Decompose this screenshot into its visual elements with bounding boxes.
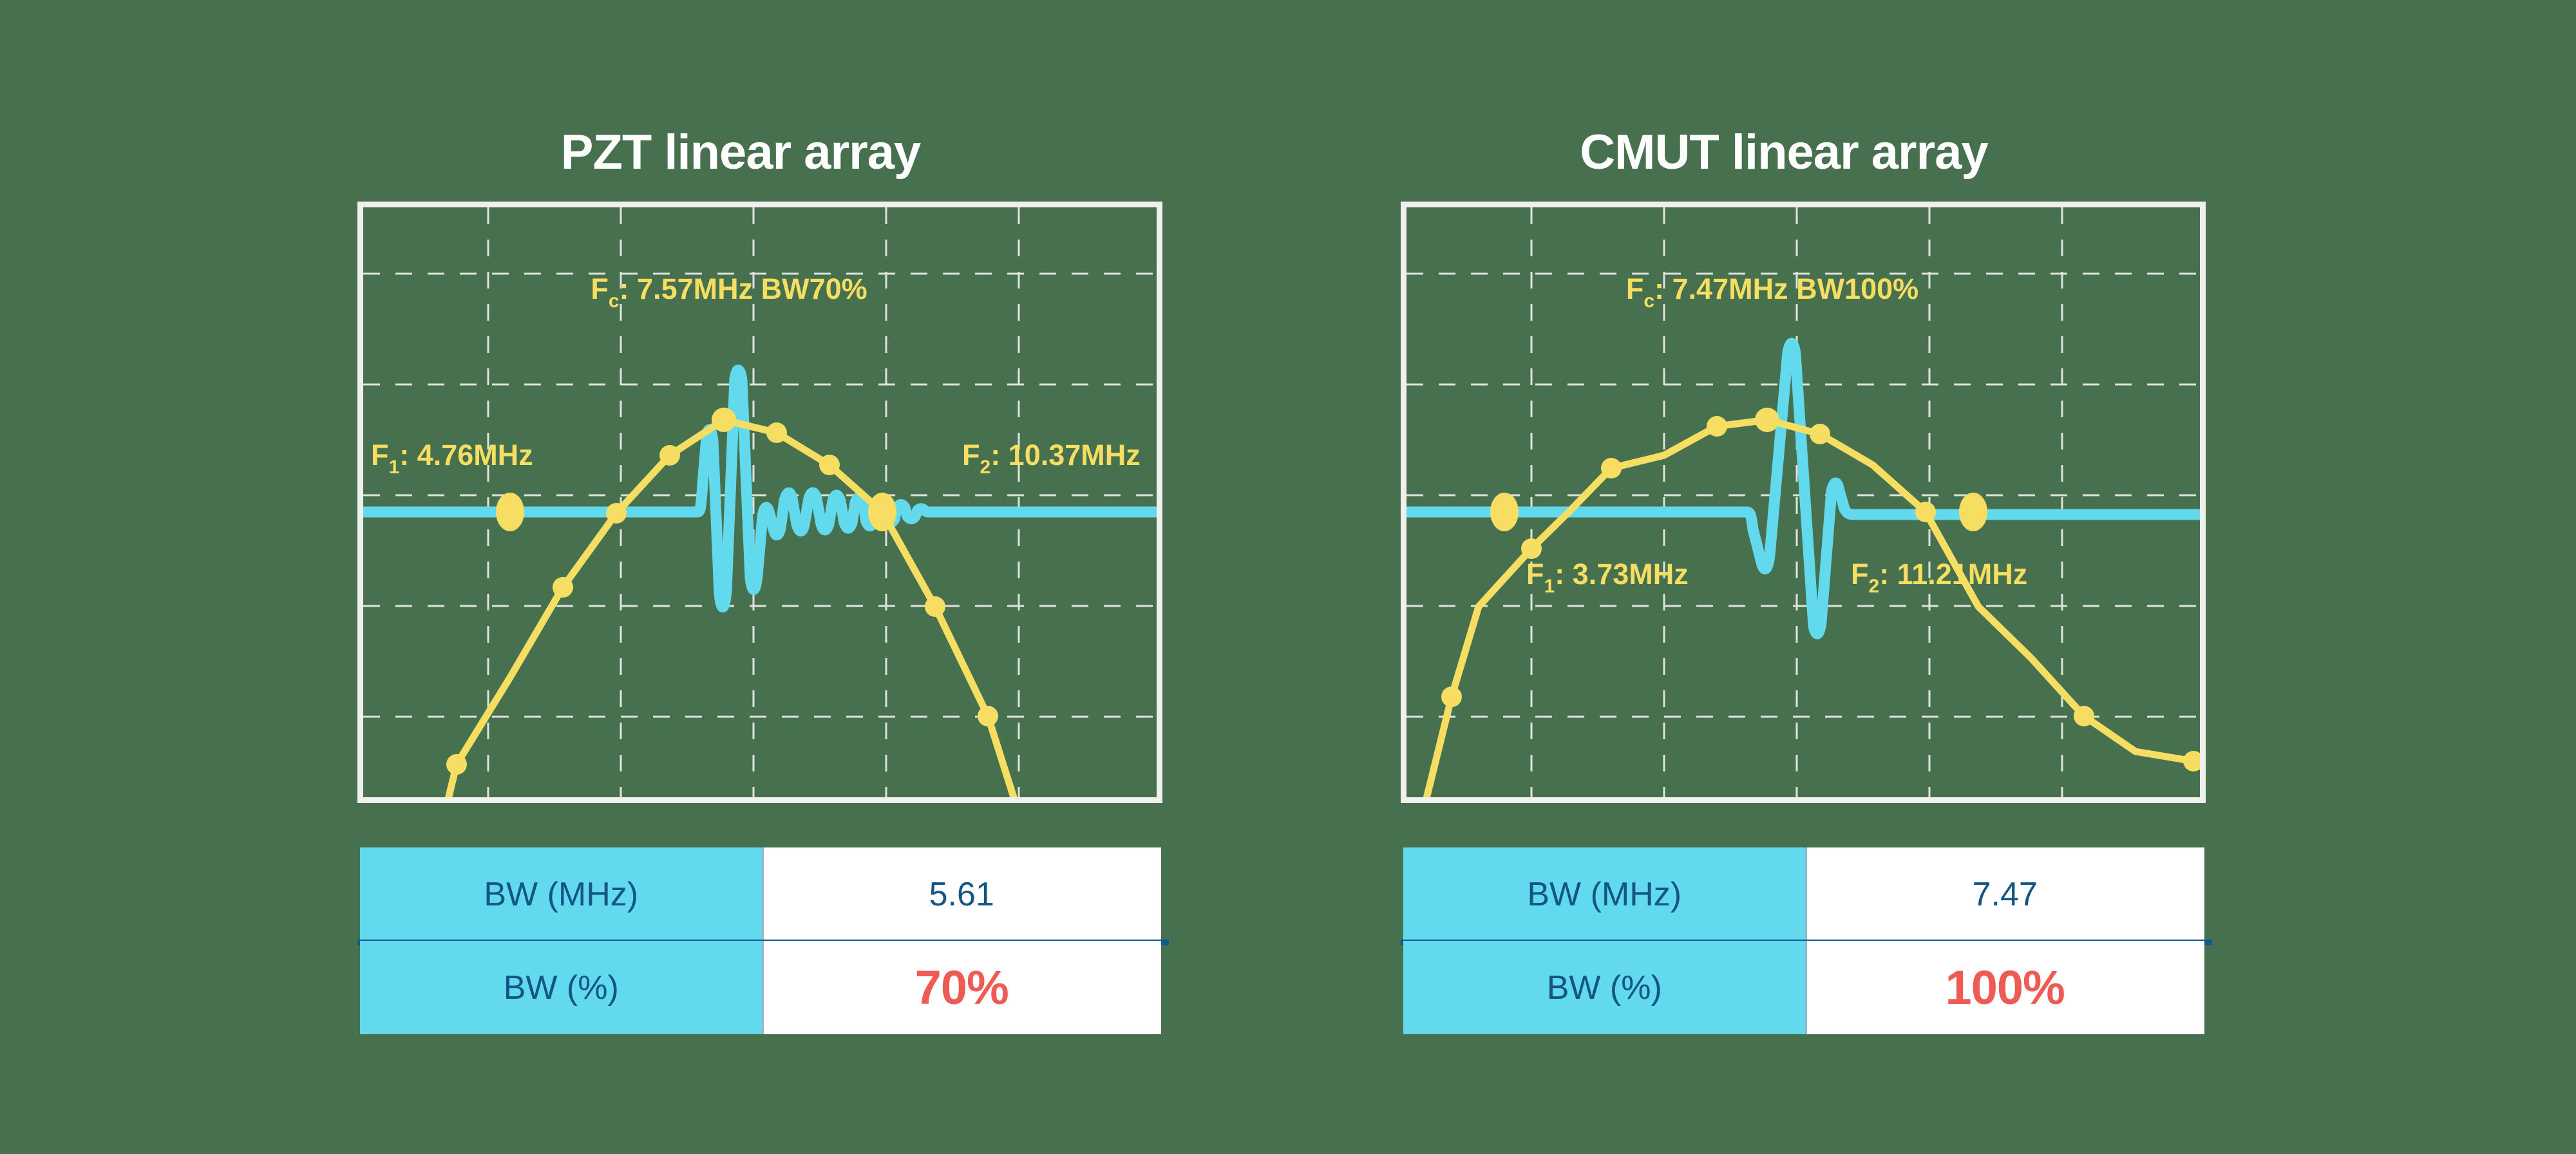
table-row: BW (MHz) 5.61 bbox=[360, 847, 1161, 941]
svg-text:F1: 3.73MHz: F1: 3.73MHz bbox=[1526, 558, 1689, 597]
annotation-fc-text: : 7.47MHz BW100% bbox=[1654, 272, 1918, 305]
annotation-f1-text: : 4.76MHz bbox=[399, 439, 533, 471]
svg-text:Fc: 7.47MHz BW100%: Fc: 7.47MHz BW100% bbox=[1626, 272, 1918, 312]
table-column-divider bbox=[762, 847, 764, 941]
bw-table-pzt: BW (MHz) 5.61 BW (%) 70% bbox=[360, 847, 1161, 1034]
chart-frame-pzt: Fc: 7.57MHz BW70% F1: 4.76MHz F2: 10.37M… bbox=[357, 202, 1162, 803]
bw-percent-label: BW (%) bbox=[360, 941, 762, 1034]
panel-cmut: CMUT linear array bbox=[1359, 0, 2563, 1154]
bw-percent-label: BW (%) bbox=[1403, 941, 1805, 1034]
impulse-waveform-pzt bbox=[363, 370, 1157, 607]
annotation-f1-prefix: F bbox=[1526, 558, 1544, 591]
table-row: BW (MHz) 7.47 bbox=[1403, 847, 2204, 941]
annotation-f1-subscript: 1 bbox=[1544, 576, 1555, 597]
page-title-pzt: PZT linear array bbox=[316, 124, 1166, 180]
table-column-divider bbox=[762, 941, 764, 1034]
annotation-f2-subscript: 2 bbox=[980, 457, 991, 478]
bw-percent-value: 100% bbox=[1805, 941, 2204, 1034]
marker-f1-cmut bbox=[1490, 493, 1519, 531]
annotation-f2-prefix: F bbox=[962, 439, 980, 471]
annotation-center-pzt: Fc: 7.57MHz BW70% bbox=[591, 272, 867, 312]
panel-pzt: PZT linear array bbox=[316, 0, 1520, 1154]
bw-mhz-value: 5.61 bbox=[762, 847, 1161, 941]
chart-pzt-spectrum: Fc: 7.57MHz BW70% F1: 4.76MHz F2: 10.37M… bbox=[363, 207, 1157, 797]
svg-text:F2: 11.21MHz: F2: 11.21MHz bbox=[1851, 558, 2027, 597]
chart-cmut-spectrum: Fc: 7.47MHz BW100% F1: 3.73MHz F2: 11.21… bbox=[1406, 207, 2200, 797]
table-column-divider bbox=[1805, 941, 1807, 1034]
impulse-waveform-cmut bbox=[1406, 343, 2200, 634]
annotation-fc-text: : 7.57MHz BW70% bbox=[620, 272, 867, 305]
annotation-f2-prefix: F bbox=[1851, 558, 1869, 591]
annotation-f1-subscript: 1 bbox=[389, 457, 400, 478]
chart-inner-pzt: Fc: 7.57MHz BW70% F1: 4.76MHz F2: 10.37M… bbox=[363, 207, 1157, 797]
annotation-f1-cmut: F1: 3.73MHz bbox=[1526, 558, 1689, 597]
page-title-cmut: CMUT linear array bbox=[1359, 124, 2209, 180]
annotation-f2-text: : 11.21MHz bbox=[1879, 558, 2027, 591]
annotation-f2-cmut: F2: 11.21MHz bbox=[1851, 558, 2027, 597]
annotation-f2-text: : 10.37MHz bbox=[990, 439, 1141, 471]
table-column-divider bbox=[1805, 847, 1807, 941]
annotation-fc-subscript: c bbox=[1643, 290, 1654, 312]
svg-text:Fc: 7.57MHz BW70%: Fc: 7.57MHz BW70% bbox=[591, 272, 867, 312]
figure-canvas: PZT linear array bbox=[0, 0, 2576, 1154]
marker-f2-cmut bbox=[1959, 493, 1987, 531]
chart-frame-cmut: Fc: 7.47MHz BW100% F1: 3.73MHz F2: 11.21… bbox=[1401, 202, 2206, 803]
table-row: BW (%) 70% bbox=[360, 941, 1161, 1034]
chart-inner-cmut: Fc: 7.47MHz BW100% F1: 3.73MHz F2: 11.21… bbox=[1406, 207, 2200, 797]
annotation-f1-pzt: F1: 4.76MHz bbox=[371, 439, 533, 478]
annotation-f2-subscript: 2 bbox=[1869, 576, 1880, 597]
annotation-fc-subscript: c bbox=[609, 290, 620, 312]
bw-mhz-value: 7.47 bbox=[1805, 847, 2204, 941]
svg-text:F2: 10.37MHz: F2: 10.37MHz bbox=[962, 439, 1141, 478]
annotation-f2-pzt: F2: 10.37MHz bbox=[962, 439, 1141, 478]
annotation-fc-prefix: F bbox=[1626, 272, 1644, 305]
marker-f2-pzt bbox=[868, 493, 896, 531]
marker-f1-pzt bbox=[496, 493, 524, 531]
bw-mhz-label: BW (MHz) bbox=[360, 847, 762, 941]
annotation-f1-prefix: F bbox=[371, 439, 389, 471]
bw-table-cmut: BW (MHz) 7.47 BW (%) 100% bbox=[1403, 847, 2204, 1034]
annotation-center-cmut: Fc: 7.47MHz BW100% bbox=[1626, 272, 1918, 312]
bw-mhz-label: BW (MHz) bbox=[1403, 847, 1805, 941]
table-row: BW (%) 100% bbox=[1403, 941, 2204, 1034]
annotation-f1-text: : 3.73MHz bbox=[1555, 558, 1689, 591]
svg-text:F1: 4.76MHz: F1: 4.76MHz bbox=[371, 439, 533, 478]
annotation-fc-prefix: F bbox=[591, 272, 609, 305]
bw-percent-value: 70% bbox=[762, 941, 1161, 1034]
